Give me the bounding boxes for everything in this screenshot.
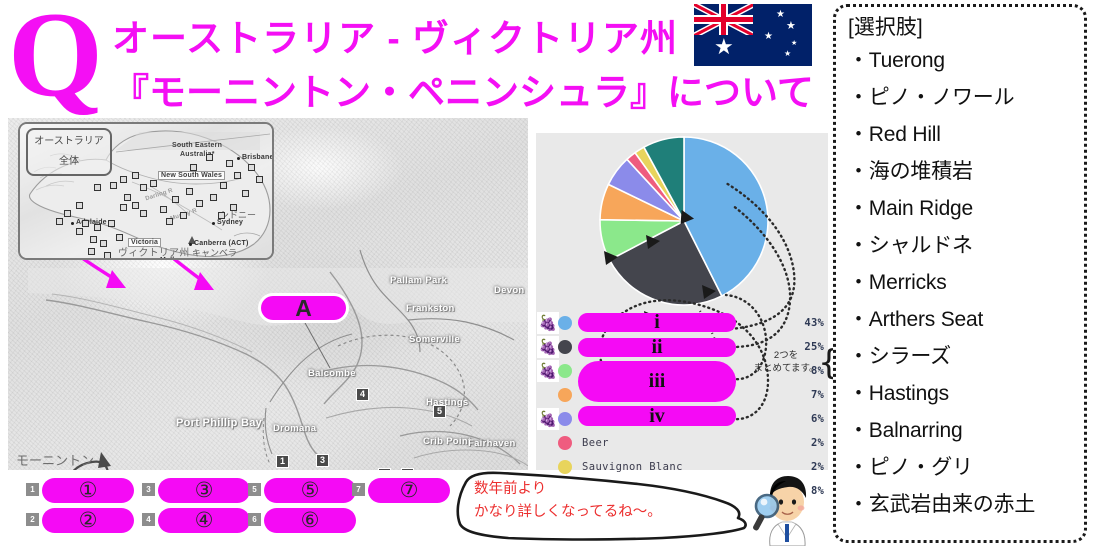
map-label: Pallam Park [390, 275, 447, 286]
speech-bubble-line-2: かなり詳しくなってるね〜。 [474, 501, 724, 524]
inset-region-marker [64, 210, 71, 217]
inset-region-marker [150, 180, 157, 187]
inset-region-marker [140, 210, 147, 217]
key-redaction-pill-4[interactable]: ④ [158, 508, 250, 533]
legend-row: Beer2% [548, 431, 828, 455]
inset-region-marker [88, 248, 95, 255]
star-gamma-crucis-icon: ★ [791, 40, 797, 47]
map-pin-4[interactable]: 4 [356, 388, 369, 401]
map-label: Balcombe [308, 368, 356, 379]
inset-region-marker [124, 194, 131, 201]
key-number-square-6: 6 [248, 513, 261, 526]
map-label: Fairhaven [468, 438, 516, 449]
key-number-square-7: 7 [352, 483, 365, 496]
map-label: Somerville [409, 334, 460, 345]
grape-variety-pie-chart-panel: 🍇43%🍇25%🍇8%7%🍇6%Beer2%Sauvignon Blanc2%O… [536, 133, 828, 470]
inset-region-marker [76, 202, 83, 209]
inset-region-marker [256, 176, 263, 183]
grape-icon-green: 🍇 [537, 336, 559, 358]
inset-region-marker [104, 252, 111, 259]
page-header: Q オーストラリア - ヴィクトリア州 『モーニントン・ペニンシュラ』について … [0, 0, 828, 116]
inset-region-marker [100, 240, 107, 247]
key-number-square-1: 1 [26, 483, 39, 496]
legend-redaction-pill[interactable]: iv [578, 406, 736, 426]
key-number-square-5: 5 [248, 483, 261, 496]
inset-title-box: オーストラリア 全体 [26, 128, 112, 176]
option-item[interactable]: ・Merricks [848, 264, 1074, 301]
legend-redaction-pill[interactable]: ii [578, 338, 736, 357]
legend-redaction-pill[interactable]: iii [578, 361, 736, 402]
speech-bubble-group: 数年前より かなり詳しくなってるね〜。 [452, 470, 842, 547]
inset-city-dot [212, 222, 215, 225]
speech-bubble-text: 数年前より かなり詳しくなってるね〜。 [474, 478, 724, 524]
inset-region-marker [172, 196, 179, 203]
inset-region-marker [196, 200, 203, 207]
legend-color-swatch [558, 340, 572, 354]
inset-region-marker [82, 220, 89, 227]
pie-slice-group [600, 137, 768, 305]
pie-chart[interactable] [598, 135, 770, 311]
key-number-square-2: 2 [26, 513, 39, 526]
legend-redaction-pill[interactable]: i [578, 313, 736, 332]
inset-city-dot [237, 157, 240, 160]
inset-region-marker [190, 164, 197, 171]
option-item[interactable]: ・ピノ・ノワール [848, 79, 1074, 116]
star-alpha-crucis-icon: ★ [786, 20, 796, 31]
inset-region-marker [120, 176, 127, 183]
legend-color-swatch [558, 316, 572, 330]
legend-percent: 43% [804, 317, 824, 329]
star-delta-crucis-icon: ★ [776, 10, 785, 20]
legend-percent: 2% [811, 437, 824, 449]
map-label: Crib Point [423, 436, 471, 447]
legend-color-swatch [558, 388, 572, 402]
inset-region-marker [108, 220, 115, 227]
option-item[interactable]: ・玄武岩由来の赤土 [848, 486, 1074, 523]
inset-region-marker [230, 204, 237, 211]
option-item[interactable]: ・シラーズ [848, 338, 1074, 375]
key-redaction-pill-5[interactable]: ⑤ [264, 478, 356, 503]
options-panel-title: [選択肢] [848, 15, 1074, 41]
option-item[interactable]: ・Red Hill [848, 116, 1074, 153]
options-list: ・Tuerong・ピノ・ノワール・Red Hill・海の堆積岩・Main Rid… [848, 42, 1074, 523]
header-title-line-1: オーストラリア - ヴィクトリア州 [112, 8, 678, 62]
australia-flag-icon: ★ ★ ★ ★ ★ ★ [694, 4, 812, 66]
speech-bubble-line-1: 数年前より [474, 478, 724, 501]
inset-map-label: ヴィクトリア州 [118, 244, 189, 259]
question-mark-logo: Q [8, 0, 101, 116]
option-item[interactable]: ・Hastings [848, 375, 1074, 412]
inset-region-marker [234, 172, 241, 179]
map-label: Port Phillip Bay [176, 417, 262, 429]
australia-overview-inset-map[interactable]: オーストラリア 全体 South EasternAustralia*New So… [18, 122, 274, 260]
inset-region-marker [166, 218, 173, 225]
key-redaction-pill-1[interactable]: ① [42, 478, 134, 503]
option-item[interactable]: ・Arthers Seat [848, 301, 1074, 338]
inset-region-marker [116, 234, 123, 241]
option-item[interactable]: ・Balnarring [848, 412, 1074, 449]
grape-icon-purple: 🍇 [537, 408, 559, 430]
mornington-annotation-line-1: モーニントン [16, 451, 142, 470]
inset-map-label: New South Wales [158, 171, 225, 180]
redaction-pill-a[interactable]: A [261, 296, 346, 320]
inset-region-marker [220, 182, 227, 189]
inset-region-marker [90, 236, 97, 243]
legend-color-swatch [558, 436, 572, 450]
legend-percent: 7% [811, 389, 824, 401]
map-pin-3[interactable]: 3 [316, 454, 329, 467]
option-item[interactable]: ・Tuerong [848, 42, 1074, 79]
key-number-square-3: 3 [142, 483, 155, 496]
inset-region-marker [132, 202, 139, 209]
inset-region-marker [56, 218, 63, 225]
inset-region-marker [132, 172, 139, 179]
inset-region-marker [226, 160, 233, 167]
map-key-legend-strip: 1①2②3③4④5⑤6⑥7⑦ [0, 470, 470, 547]
option-item[interactable]: ・海の堆積岩 [848, 153, 1074, 190]
option-item[interactable]: ・ピノ・グリ [848, 449, 1074, 486]
inset-region-marker [210, 194, 217, 201]
inset-map-label: Adelaide [76, 219, 107, 226]
inset-map-label: South Eastern [172, 142, 222, 149]
inset-region-marker [140, 184, 147, 191]
inset-region-marker [242, 190, 249, 197]
grape-icon-green: 🍇 [537, 360, 559, 382]
union-jack-canton [694, 4, 753, 35]
inset-region-marker [120, 204, 127, 211]
star-beta-crucis-icon: ★ [764, 32, 773, 42]
inset-region-marker [186, 188, 193, 195]
key-redaction-pill-3[interactable]: ③ [158, 478, 250, 503]
key-number-square-4: 4 [142, 513, 155, 526]
map-pin-5[interactable]: 5 [433, 405, 446, 418]
map-label: Dromana [273, 423, 316, 434]
map-label: Devon [494, 285, 525, 296]
option-item[interactable]: ・シャルドネ [848, 227, 1074, 264]
grape-icon-purple: 🍇 [537, 312, 559, 334]
inset-region-marker [110, 182, 117, 189]
legend-color-swatch [558, 364, 572, 378]
mornington-peninsula-annotation: モーニントン ・ペニンシュラ(半島) [16, 451, 142, 470]
inset-region-marker [94, 184, 101, 191]
inset-map-label: キャンベラ [192, 246, 237, 259]
legend-percent: 6% [811, 413, 824, 425]
answer-options-panel: [選択肢] ・Tuerong・ピノ・ノワール・Red Hill・海の堆積岩・Ma… [833, 4, 1087, 543]
inset-city-dot [71, 222, 74, 225]
header-title-line-2: 『モーニントン・ペニンシュラ』について [112, 62, 814, 116]
inset-region-marker [94, 224, 101, 231]
inset-region-marker [76, 228, 83, 235]
inset-map-label: Brisbane [242, 154, 274, 161]
inset-region-marker [180, 212, 187, 219]
doctor-with-magnifier-icon [748, 472, 826, 546]
inset-title-line-1: オーストラリア [28, 132, 110, 147]
map-label: Frankston [406, 303, 455, 314]
star-epsilon-crucis-icon: ★ [784, 50, 791, 58]
option-item[interactable]: ・Main Ridge [848, 190, 1074, 227]
inset-map-label: シドニー [220, 208, 256, 221]
legend-label: Beer [582, 437, 609, 449]
map-pin-1[interactable]: 1 [276, 455, 289, 468]
commonwealth-star-icon: ★ [714, 37, 734, 59]
mornington-peninsula-map[interactable]: Pallam ParkDevonFrankstonSomervilleBalco… [8, 118, 528, 470]
key-redaction-pill-7[interactable]: ⑦ [368, 478, 450, 503]
inset-region-marker [248, 164, 255, 171]
inset-region-marker [206, 154, 213, 161]
key-redaction-pill-2[interactable]: ② [42, 508, 134, 533]
inset-region-marker [160, 206, 167, 213]
inset-region-marker [218, 212, 225, 219]
key-redaction-pill-6[interactable]: ⑥ [264, 508, 356, 533]
legend-color-swatch [558, 412, 572, 426]
inset-title-line-2: 全体 [28, 152, 110, 167]
